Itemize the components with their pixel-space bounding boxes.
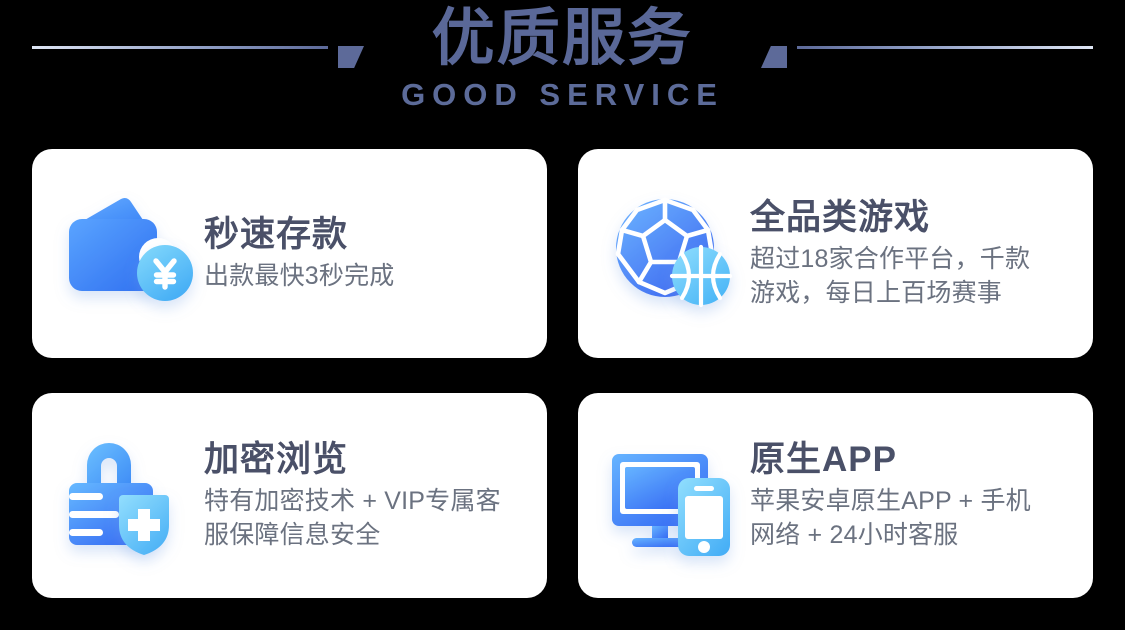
lock-shield-icon: [58, 433, 194, 559]
feature-card-description: 苹果安卓原生APP + 手机 网络 + 24小时客服: [750, 485, 1093, 552]
header-text-group: 优质服务 GOOD SERVICE: [0, 6, 1125, 113]
feature-card-description-line: 出款最快3秒完成: [204, 260, 547, 294]
page-subtitle: GOOD SERVICE: [401, 77, 724, 113]
feature-card-description-line: 特有加密技术 + VIP专属客: [204, 485, 547, 519]
feature-card-description: 出款最快3秒完成: [204, 260, 547, 294]
feature-card-text: 秒速存款 出款最快3秒完成: [204, 214, 547, 294]
feature-card[interactable]: 秒速存款 出款最快3秒完成: [32, 149, 547, 358]
feature-card-title: 全品类游戏: [750, 197, 1093, 238]
feature-card[interactable]: 原生APP 苹果安卓原生APP + 手机 网络 + 24小时客服: [578, 393, 1093, 598]
feature-card-description-line: 服保障信息安全: [204, 519, 547, 553]
feature-card-description-line: 苹果安卓原生APP + 手机: [750, 485, 1093, 519]
monitor-phone-icon: [604, 433, 740, 559]
feature-card-description-line: 网络 + 24小时客服: [750, 519, 1093, 553]
promo-banner: 优质服务 GOOD SERVICE: [0, 0, 1125, 630]
feature-card-text: 全品类游戏 超过18家合作平台，千款 游戏，每日上百场赛事: [750, 197, 1093, 310]
page-title: 优质服务: [432, 6, 693, 73]
feature-card[interactable]: 全品类游戏 超过18家合作平台，千款 游戏，每日上百场赛事: [578, 149, 1093, 358]
feature-card-title: 秒速存款: [204, 214, 547, 255]
feature-card-title: 原生APP: [750, 439, 1093, 480]
feature-card-description-line: 游戏，每日上百场赛事: [750, 277, 1093, 311]
wallet-yen-icon: [58, 191, 194, 317]
feature-card-text: 加密浏览 特有加密技术 + VIP专属客 服保障信息安全: [204, 439, 547, 552]
feature-card-description: 特有加密技术 + VIP专属客 服保障信息安全: [204, 485, 547, 552]
feature-card-text: 原生APP 苹果安卓原生APP + 手机 网络 + 24小时客服: [750, 439, 1093, 552]
feature-card[interactable]: 加密浏览 特有加密技术 + VIP专属客 服保障信息安全: [32, 393, 547, 598]
feature-card-title: 加密浏览: [204, 439, 547, 480]
feature-card-grid: 秒速存款 出款最快3秒完成: [32, 149, 1093, 598]
soccer-basketball-icon: [604, 191, 740, 317]
feature-card-description: 超过18家合作平台，千款 游戏，每日上百场赛事: [750, 243, 1093, 310]
header: 优质服务 GOOD SERVICE: [0, 0, 1125, 145]
feature-card-description-line: 超过18家合作平台，千款: [750, 243, 1093, 277]
